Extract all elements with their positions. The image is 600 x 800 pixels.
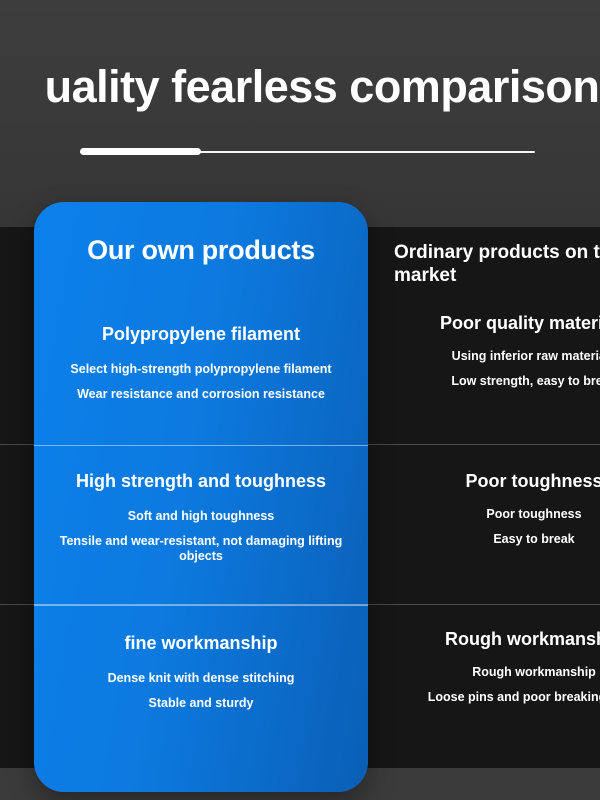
- cell-line: Easy to break: [390, 532, 600, 547]
- card-row: High strength and toughness Soft and hig…: [34, 445, 368, 605]
- cell-line: Poor toughness: [390, 507, 600, 522]
- cell-heading: Poor quality materials: [390, 313, 600, 333]
- cell-line: Stable and sturdy: [56, 696, 346, 711]
- cell-line: Rough workmanship: [390, 665, 600, 680]
- cell-heading: fine workmanship: [0, 633, 12, 653]
- title-divider-rule: [80, 148, 535, 155]
- cell-line: Select high-strength polypropylene filam…: [56, 362, 346, 377]
- cell-lines: Using inferior raw materials Low strengt…: [390, 349, 600, 389]
- cell-line: Dense knit with dense stitching: [56, 671, 346, 686]
- table-cell-left-cropped: [0, 227, 34, 444]
- table-cell-market: Poor quality materials Using inferior ra…: [368, 227, 600, 444]
- table-cell-left-cropped: fine workmanship: [0, 605, 34, 768]
- cell-heading: Rough workmanship: [390, 629, 600, 649]
- table-cell-ours: Polypropylene filament Select high-stren…: [34, 324, 368, 402]
- our-products-highlight-card[interactable]: Our own products Polypropylene filament …: [34, 202, 368, 792]
- cell-line: Soft and high toughness: [56, 509, 346, 524]
- table-cell-market: Rough workmanship Rough workmanship Loos…: [368, 605, 600, 768]
- cell-heading: Poor toughness: [390, 471, 600, 491]
- cell-line: Loose pins and poor breaking force: [390, 690, 600, 705]
- cell-heading: High strength and toughness: [56, 471, 346, 491]
- cell-line: Tensile and wear-resistant, not damaging…: [56, 534, 346, 564]
- cell-heading: High strength and toughness: [0, 471, 12, 491]
- cell-lines: Dense knit with dense stitching Stable a…: [56, 671, 346, 711]
- page-header: uality fearless comparison: [0, 0, 600, 227]
- cell-line: Using inferior raw materials: [390, 349, 600, 364]
- card-row: fine workmanship Dense knit with dense s…: [34, 605, 368, 768]
- table-cell-ours: High strength and toughness Soft and hig…: [34, 471, 368, 564]
- table-cell-ours: fine workmanship Dense knit with dense s…: [34, 633, 368, 711]
- cell-line: Low strength, easy to break: [390, 374, 600, 389]
- table-cell-market: Poor toughness Poor toughness Easy to br…: [368, 445, 600, 604]
- cell-lines: Soft and high toughness Tensile and wear…: [56, 509, 346, 564]
- cell-lines: Poor toughness Easy to break: [390, 507, 600, 547]
- title-divider-thick: [80, 148, 201, 155]
- cell-line: Wear resistance and corrosion resistance: [56, 387, 346, 402]
- cell-lines: Select high-strength polypropylene filam…: [56, 362, 346, 402]
- card-row: Polypropylene filament Select high-stren…: [34, 227, 368, 445]
- cell-lines: Rough workmanship Loose pins and poor br…: [390, 665, 600, 705]
- cell-heading: fine workmanship: [56, 633, 346, 653]
- table-cell-left-cropped: High strength and toughness: [0, 445, 34, 604]
- page-title: uality fearless comparison: [0, 58, 600, 116]
- cell-heading: Polypropylene filament: [56, 324, 346, 344]
